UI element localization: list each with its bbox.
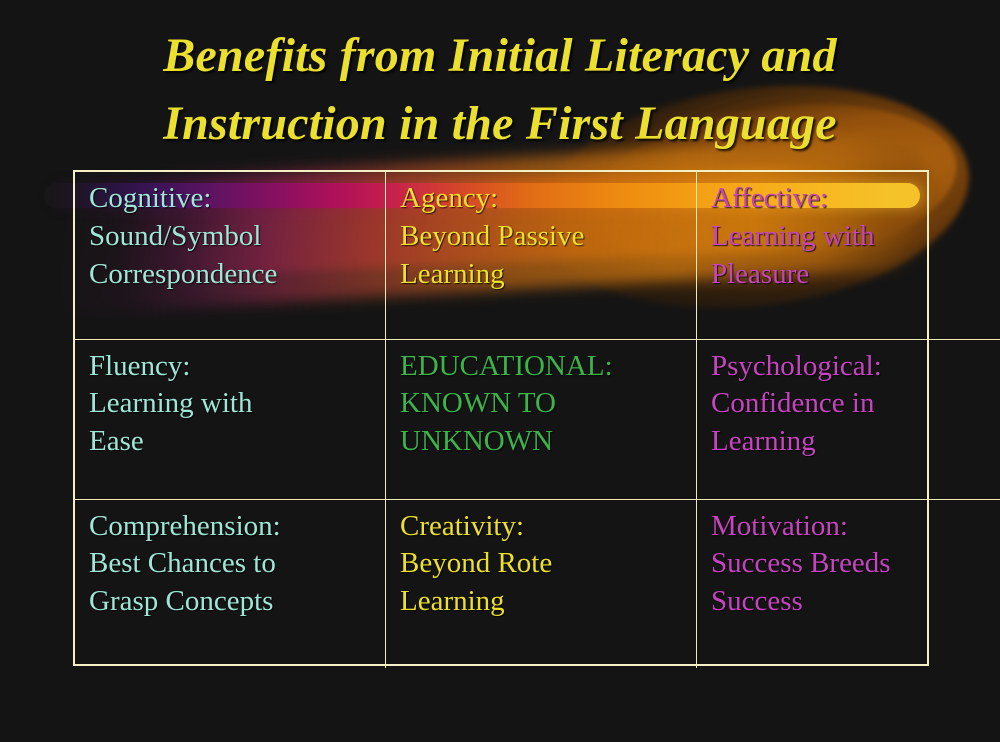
cell-line: UNKNOWN bbox=[400, 423, 684, 461]
cell-line: Learning bbox=[400, 256, 684, 294]
cell-line: Beyond Rote bbox=[400, 545, 684, 583]
cell-line: Learning with bbox=[89, 385, 373, 423]
cell-line: Success bbox=[711, 583, 999, 621]
cell-agency: Agency: Beyond Passive Learning bbox=[386, 172, 697, 339]
cell-motivation: Motivation: Success Breeds Success bbox=[697, 499, 1000, 668]
cell-creativity: Creativity: Beyond Rote Learning bbox=[386, 499, 697, 668]
cell-line: Fluency: bbox=[89, 348, 373, 386]
cell-line: Best Chances to bbox=[89, 545, 373, 583]
slide-title: Benefits from Initial Literacy and Instr… bbox=[0, 22, 1000, 158]
cell-line: Affective: bbox=[711, 180, 999, 218]
cell-line: Grasp Concepts bbox=[89, 583, 373, 621]
cell-line: Success Breeds bbox=[711, 545, 999, 583]
cell-line: Confidence in bbox=[711, 385, 999, 423]
cell-line: Ease bbox=[89, 423, 373, 461]
cell-line: Motivation: bbox=[711, 508, 999, 546]
cell-line: Correspondence bbox=[89, 256, 373, 294]
cell-line: Sound/Symbol bbox=[89, 218, 373, 256]
cell-educational: EDUCATIONAL: KNOWN TO UNKNOWN bbox=[386, 339, 697, 499]
cell-line: Creativity: bbox=[400, 508, 684, 546]
cell-line: Learning with bbox=[711, 218, 999, 256]
table-row: Fluency: Learning with Ease EDUCATIONAL:… bbox=[75, 339, 1000, 499]
slide-title-line-2: Instruction in the First Language bbox=[0, 90, 1000, 158]
cell-fluency: Fluency: Learning with Ease bbox=[75, 339, 386, 499]
cell-line: KNOWN TO bbox=[400, 385, 684, 423]
slide-title-line-1: Benefits from Initial Literacy and bbox=[0, 22, 1000, 90]
cell-line: EDUCATIONAL: bbox=[400, 348, 684, 386]
cell-line: Learning bbox=[711, 423, 999, 461]
presentation-slide: Benefits from Initial Literacy and Instr… bbox=[0, 0, 1000, 742]
table-row: Cognitive: Sound/Symbol Correspondence A… bbox=[75, 172, 1000, 339]
cell-line: Pleasure bbox=[711, 256, 999, 294]
cell-line: Cognitive: bbox=[89, 180, 373, 218]
cell-line: Agency: bbox=[400, 180, 684, 218]
cell-cognitive: Cognitive: Sound/Symbol Correspondence bbox=[75, 172, 386, 339]
benefits-table: Cognitive: Sound/Symbol Correspondence A… bbox=[73, 170, 929, 666]
cell-psychological: Psychological: Confidence in Learning bbox=[697, 339, 1000, 499]
table-row: Comprehension: Best Chances to Grasp Con… bbox=[75, 499, 1000, 668]
cell-line: Beyond Passive bbox=[400, 218, 684, 256]
cell-line: Learning bbox=[400, 583, 684, 621]
cell-line: Psychological: bbox=[711, 348, 999, 386]
cell-line: Comprehension: bbox=[89, 508, 373, 546]
cell-comprehension: Comprehension: Best Chances to Grasp Con… bbox=[75, 499, 386, 668]
cell-affective: Affective: Learning with Pleasure bbox=[697, 172, 1000, 339]
